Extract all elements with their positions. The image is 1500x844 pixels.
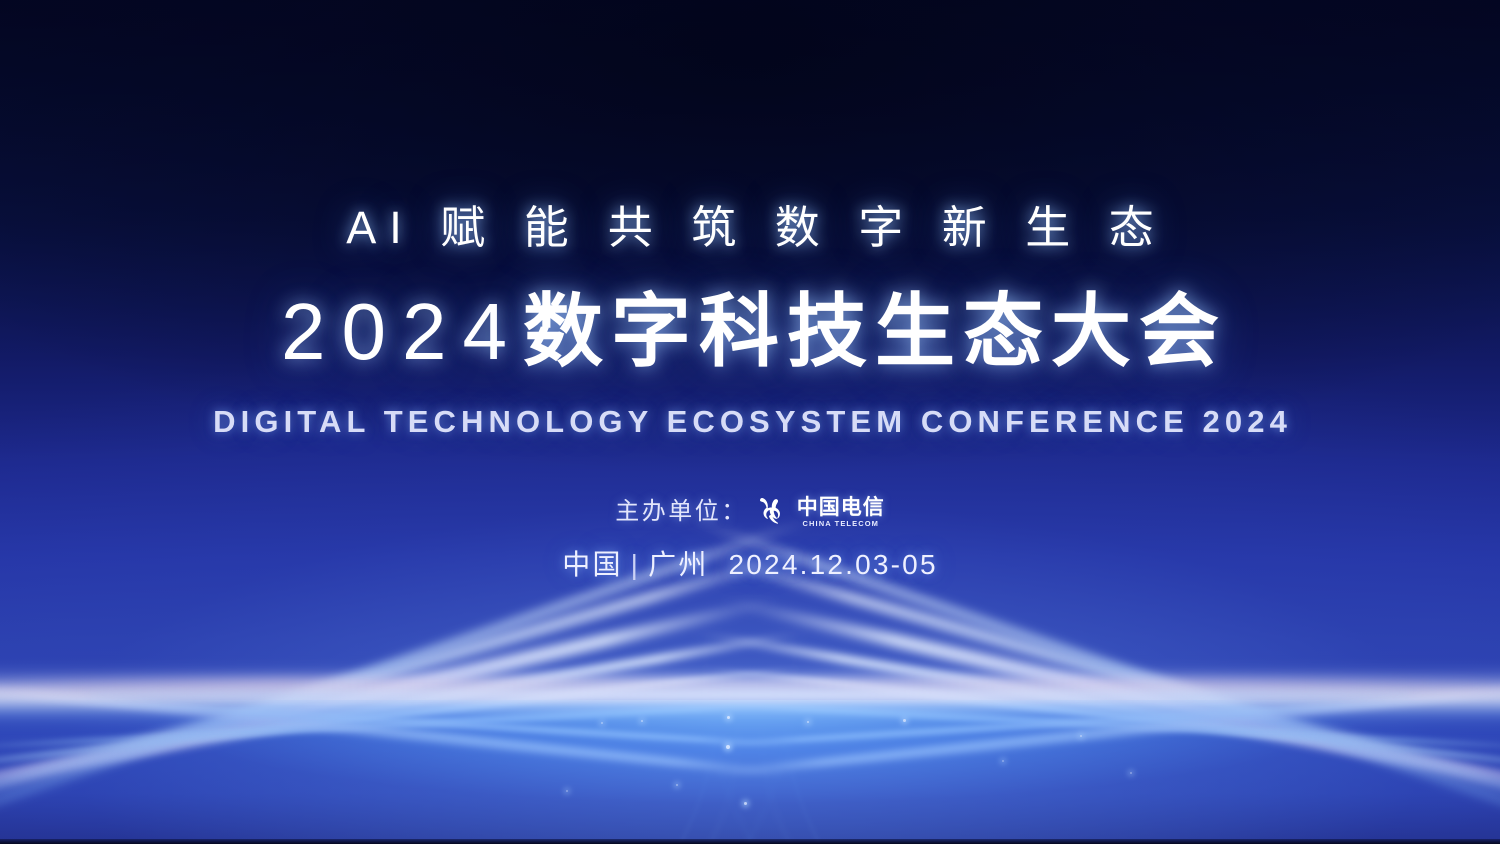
tagline-part-2: 共 筑 数 字 新 生 态 (608, 202, 1167, 253)
organiser-row: 主办单位： 中国电信 CHINA TELECOM (0, 497, 1500, 528)
sparkle-particle (807, 721, 809, 723)
sparkle-particle (726, 745, 730, 749)
sparkle-particle (1130, 772, 1132, 774)
event-dates: 2024.12.03-05 (729, 549, 938, 580)
sponsor-name-chinese: 中国电信 (797, 497, 885, 518)
horizon-core-highlight (90, 690, 1410, 700)
tagline-part-1: AI 赋 能 (346, 202, 582, 253)
sparkle-particle (641, 720, 643, 722)
sparkle-particle (1080, 735, 1082, 737)
venue-country: 中国 (562, 549, 622, 580)
sparkle-particle (903, 719, 906, 722)
sparkle-particle (676, 784, 678, 786)
china-telecom-ox-horn-icon (757, 497, 791, 527)
organiser-label: 主办单位： (615, 500, 748, 524)
sparkle-particle (566, 790, 568, 792)
event-subtitle-english: DIGITAL TECHNOLOGY ECOSYSTEM CONFERENCE … (0, 406, 1500, 437)
sponsor-name-block: 中国电信 CHINA TELECOM (797, 497, 885, 528)
sparkle-particle (727, 716, 730, 719)
event-title-chinese: 数字科技生态大会 (523, 287, 1227, 376)
sponsor-logo: 中国电信 CHINA TELECOM (757, 497, 885, 528)
venue-date-line: 中国|广州 2024.12.03-05 (0, 551, 1500, 579)
event-tagline: AI 赋 能共 筑 数 字 新 生 态 (0, 205, 1500, 250)
event-title-year: 2024 (281, 287, 523, 376)
bottom-edge-strip (0, 839, 1500, 844)
sponsor-name-english: CHINA TELECOM (802, 520, 879, 528)
sparkle-particle (601, 722, 603, 724)
sparkle-particle (1002, 760, 1004, 762)
sparkle-particle (744, 802, 747, 805)
venue-city: 广州 (648, 549, 708, 580)
conference-banner: AI 赋 能共 筑 数 字 新 生 态 2024数字科技生态大会 DIGITAL… (0, 0, 1500, 844)
event-title: 2024数字科技生态大会 (0, 292, 1500, 372)
venue-separator: | (631, 549, 640, 580)
